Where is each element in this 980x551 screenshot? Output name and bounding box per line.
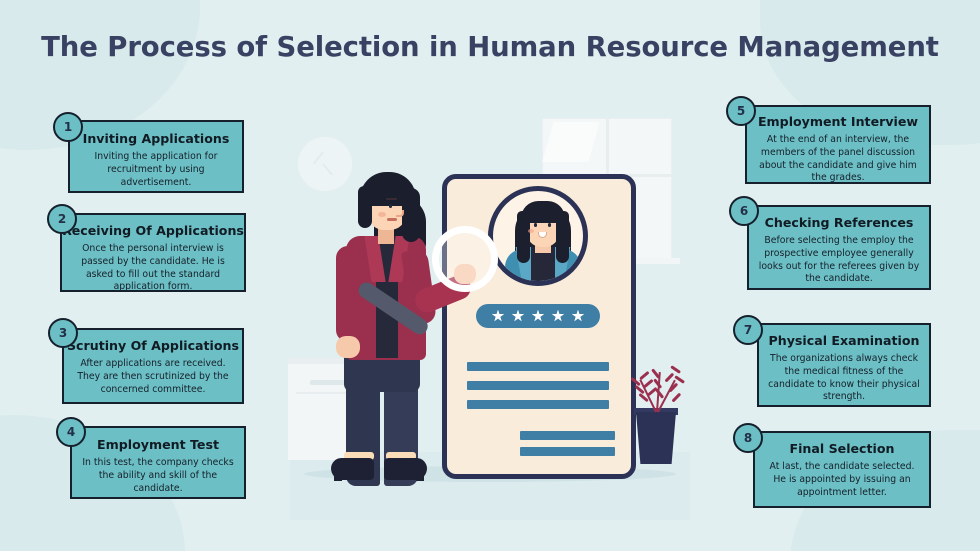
step-card-1[interactable]: Inviting Applications Inviting the appli…	[68, 120, 244, 193]
star-icon	[572, 310, 585, 323]
plant-leaf	[668, 383, 678, 393]
step-card-3[interactable]: Scrutiny Of Applications After applicati…	[62, 328, 244, 404]
infographic-canvas: The Process of Selection in Human Resour…	[0, 0, 980, 551]
step-body: At last, the candidate selected. He is a…	[755, 461, 929, 499]
step-badge-5: 5	[726, 96, 756, 126]
star-icon	[512, 310, 525, 323]
person-shoe-left	[331, 458, 374, 480]
plant-leaf	[643, 379, 654, 389]
step-body: At the end of an interview, the members …	[747, 134, 929, 185]
step-body: The organizations always check the medic…	[759, 353, 929, 404]
step-card-5[interactable]: Employment Interview At the end of an in…	[745, 105, 931, 184]
step-body: Before selecting the employ the prospect…	[749, 235, 929, 286]
avatar-eye-right	[548, 223, 551, 227]
step-body: In this test, the company checks the abi…	[72, 457, 244, 495]
person-hair-top	[360, 172, 416, 206]
step-badge-6: 6	[729, 196, 759, 226]
step-body: Once the personal interview is passed by…	[62, 243, 244, 294]
star-icon	[552, 310, 565, 323]
plant-leaf	[639, 371, 650, 381]
resume-text-line	[467, 362, 609, 371]
step-badge-7: 7	[733, 315, 763, 345]
step-title: Receiving Of Applications	[62, 223, 244, 238]
plant-leaf	[671, 393, 681, 403]
step-body: After applications are received. They ar…	[64, 358, 242, 396]
resume-text-line	[520, 447, 615, 456]
page-title: The Process of Selection in Human Resour…	[0, 31, 980, 63]
resume-text-line	[520, 431, 615, 440]
step-card-4[interactable]: Employment Test In this test, the compan…	[70, 426, 246, 499]
step-badge-1: 1	[53, 112, 83, 142]
step-card-7[interactable]: Physical Examination The organizations a…	[757, 323, 931, 407]
plant-pot	[636, 412, 676, 464]
step-card-2[interactable]: Receiving Of Applications Once the perso…	[60, 213, 246, 292]
step-card-8[interactable]: Final Selection At last, the candidate s…	[753, 431, 931, 508]
star-rating	[476, 304, 600, 328]
star-icon	[492, 310, 505, 323]
step-title: Physical Examination	[759, 333, 929, 348]
hero-illustration	[290, 100, 690, 520]
person-hand-left	[336, 336, 360, 358]
step-card-6[interactable]: Checking References Before selecting the…	[747, 205, 931, 290]
resume-text-line	[467, 381, 609, 390]
star-icon	[532, 310, 545, 323]
avatar-eye-left	[534, 223, 537, 227]
step-title: Checking References	[749, 215, 929, 230]
person-cheek	[378, 212, 386, 217]
avatar	[488, 186, 588, 286]
step-title: Final Selection	[755, 441, 929, 456]
person-mouth	[387, 218, 397, 221]
step-title: Employment Test	[72, 437, 244, 452]
step-badge-3: 3	[48, 318, 78, 348]
step-badge-8: 8	[733, 423, 763, 453]
person-shoe-right	[384, 458, 427, 480]
avatar-hair-top	[521, 201, 565, 223]
step-title: Scrutiny Of Applications	[64, 338, 242, 353]
resume-text-line	[467, 400, 609, 409]
step-title: Employment Interview	[747, 114, 929, 129]
step-title: Inviting Applications	[70, 131, 242, 146]
step-badge-4: 4	[56, 417, 86, 447]
magnifier-icon	[432, 226, 498, 292]
person-arm-left	[336, 246, 360, 342]
step-body: Inviting the application for recruitment…	[70, 151, 242, 189]
step-badge-2: 2	[47, 204, 77, 234]
avatar-cheek	[528, 229, 534, 233]
